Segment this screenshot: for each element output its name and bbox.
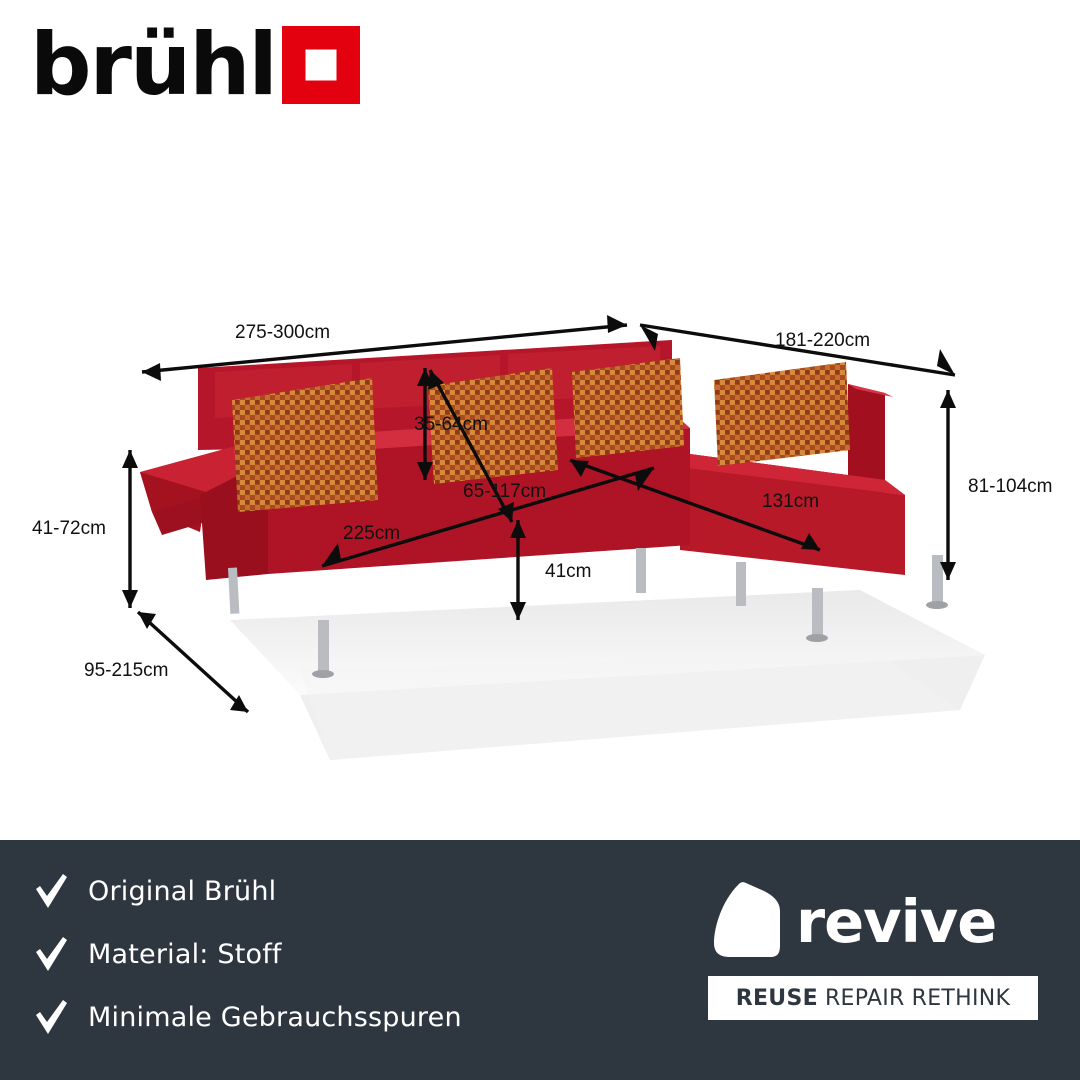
dim-label-width-chaise: 181-220cm: [775, 330, 870, 352]
revive-tagline: REUSE REPAIR RETHINK: [708, 976, 1038, 1020]
product-image-with-dimensions: 275-300cm 181-220cm 35-64cm 65-117cm 81-…: [0, 150, 1080, 840]
revive-leaf-icon: [708, 881, 784, 964]
tagline-word-rethink: RETHINK: [912, 986, 1011, 1011]
tagline-word-reuse: REUSE: [736, 986, 818, 1011]
brand-logo-text: brühl: [30, 24, 276, 106]
revive-wordmark: revive: [796, 892, 996, 952]
feature-label: Material: Stoff: [88, 939, 282, 970]
dim-label-width-main: 275-300cm: [235, 322, 330, 344]
square-icon: [282, 26, 360, 104]
list-item: Minimale Gebrauchsspuren: [34, 992, 462, 1042]
dim-label-backrest: 35-64cm: [414, 414, 488, 436]
feature-label: Original Brühl: [88, 876, 276, 907]
dim-label-seat-width: 225cm: [343, 523, 400, 545]
list-item: Material: Stoff: [34, 929, 462, 979]
checkmark-icon: [34, 998, 68, 1036]
dim-label-seat-height: 41cm: [545, 561, 591, 583]
dim-label-seat-depth: 65-117cm: [463, 481, 546, 503]
feature-label: Minimale Gebrauchsspuren: [88, 1002, 462, 1033]
revive-logo: revive REUSE REPAIR RETHINK: [708, 882, 1038, 1020]
footer-bar: Original Brühl Material: Stoff Minimale …: [0, 840, 1080, 1080]
list-item: Original Brühl: [34, 866, 462, 916]
dim-label-depth-total: 95-215cm: [84, 660, 169, 682]
dim-label-chaise-depth: 131cm: [762, 491, 819, 513]
floor-rug: [230, 590, 985, 760]
checkmark-icon: [34, 935, 68, 973]
checkmark-icon: [34, 872, 68, 910]
tagline-word-repair: REPAIR: [825, 986, 905, 1011]
dim-label-armrest: 41-72cm: [32, 518, 106, 540]
brand-logo: brühl: [30, 24, 360, 106]
dim-label-height-right: 81-104cm: [968, 476, 1053, 498]
feature-list: Original Brühl Material: Stoff Minimale …: [34, 866, 462, 1042]
